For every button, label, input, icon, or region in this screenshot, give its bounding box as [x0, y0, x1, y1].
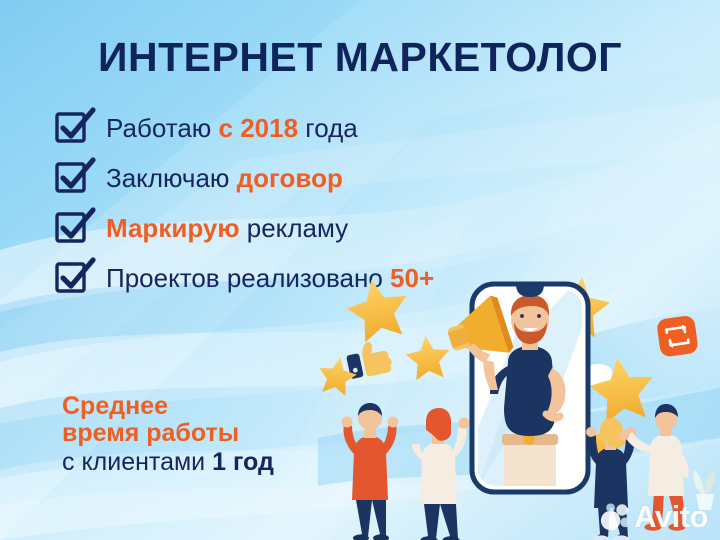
star-icon [404, 333, 452, 381]
star-icon [342, 273, 414, 344]
list-item-highlight: договор [237, 163, 343, 193]
avg-line-2: время работы [62, 420, 274, 447]
avg-line-3-pre: с клиентами [62, 448, 212, 476]
checkbox-checked-icon [56, 211, 90, 245]
advert-canvas: ИНТЕРНЕТ МАРКЕТОЛОГ Работаю с 2018 года [0, 0, 720, 540]
list-item-text-pre: Работаю [106, 113, 219, 143]
average-duration-block: Среднее время работы с клиентами 1 год [62, 393, 274, 478]
list-item-highlight: с 2018 [219, 113, 299, 143]
repeat-icon [656, 315, 699, 358]
avito-logo-icon [600, 502, 630, 532]
avg-line-1: Среднее [62, 393, 274, 420]
list-item-label: Маркирую рекламу [106, 215, 348, 241]
list-item: Маркирую рекламу [56, 204, 434, 252]
avito-brand-label: Avito [634, 501, 708, 532]
list-item: Работаю с 2018 года [56, 104, 434, 152]
list-item-label: Заключаю договор [106, 165, 343, 191]
avg-line-3: с клиентами 1 год [62, 448, 274, 478]
list-item-label: Работаю с 2018 года [106, 115, 358, 141]
avito-watermark: Avito [600, 501, 708, 532]
checkbox-checked-icon [56, 161, 90, 195]
page-title: ИНТЕРНЕТ МАРКЕТОЛОГ [0, 34, 720, 81]
avg-line-3-bold: 1 год [212, 448, 274, 476]
list-item-highlight: Маркирую [106, 213, 240, 243]
list-item-text-post: рекламу [240, 213, 349, 243]
list-item: Заключаю договор [56, 154, 434, 202]
list-item-text-post: года [298, 113, 358, 143]
checkbox-checked-icon [56, 111, 90, 145]
checkbox-checked-icon [56, 261, 90, 295]
list-item-text-pre: Заключаю [106, 163, 237, 193]
